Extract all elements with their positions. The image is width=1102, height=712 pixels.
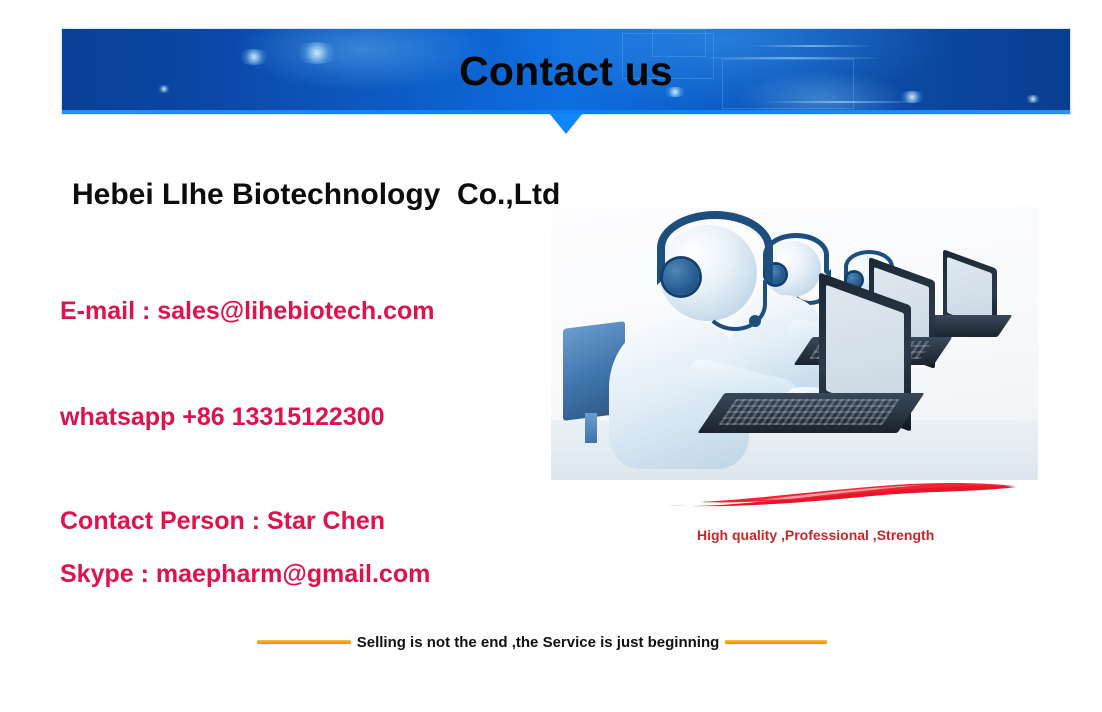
header-banner: Contact us [62, 29, 1070, 114]
illustration-caption: High quality ,Professional ,Strength [697, 527, 934, 543]
footer-rule-left [257, 640, 351, 644]
red-brush-swoosh [660, 478, 1020, 510]
banner-arrow-down-icon [549, 113, 583, 134]
footer-rule-right [725, 640, 827, 644]
contact-person: Contact Person : Star Chen [60, 507, 385, 536]
agent-earcup [663, 259, 699, 295]
agent-mic-tip [749, 315, 761, 327]
laptop-keyboard [718, 399, 900, 425]
contact-whatsapp: whatsapp +86 13315122300 [60, 403, 385, 432]
footer-tagline-text: Selling is not the end ,the Service is j… [357, 634, 720, 651]
monitor-stand [585, 413, 597, 443]
contact-skype: Skype : maepharm@gmail.com [60, 560, 430, 589]
company-name: Hebei LIhe Biotechnology Co.,Ltd [72, 178, 560, 212]
page-title: Contact us [62, 29, 1070, 114]
customer-service-illustration [551, 207, 1038, 480]
footer-tagline-bar: Selling is not the end ,the Service is j… [222, 631, 862, 653]
contact-email: E-mail : sales@lihebiotech.com [60, 297, 435, 326]
